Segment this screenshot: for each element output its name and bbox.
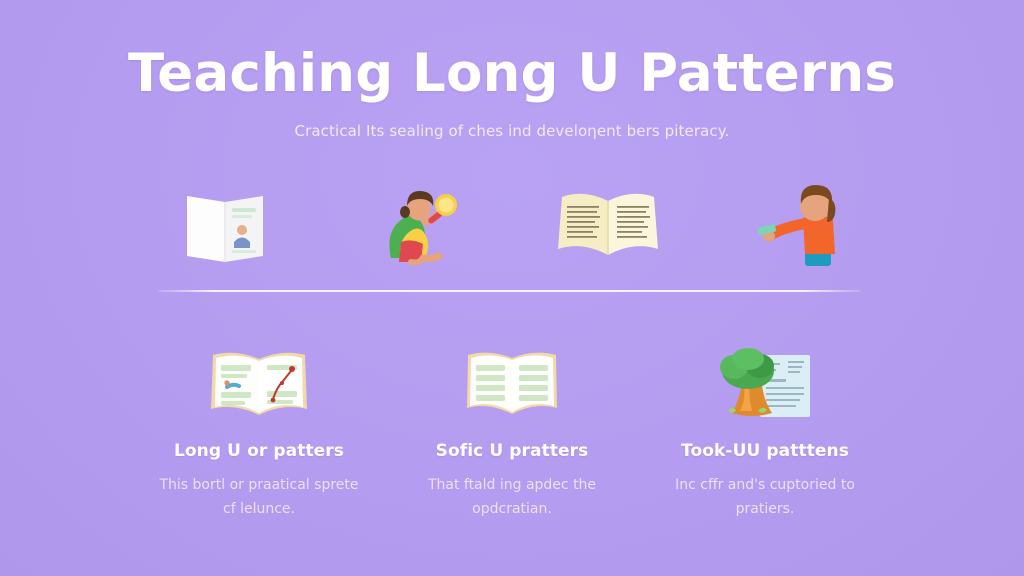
card-row: Long U or patters This bortl or praatica… [140,345,884,521]
card-body: That ftald ing apdec the opdcratian. [410,473,615,521]
book-with-path-icon [205,345,313,425]
slide-canvas: Teaching Long U Patterns Cractical Its s… [0,0,1024,576]
card-long-u: Long U or patters This bortl or praatica… [140,345,378,521]
icon-strip [150,178,874,276]
page-subtitle: Cractical Its sealing of ches ind develo… [0,102,1024,140]
card-took-uu: Took-UU patttens Inc cffr and's cuptorie… [646,345,884,521]
section-divider [158,290,860,292]
open-white-booklet-icon [150,178,300,276]
girl-with-magnifier-icon [341,178,491,276]
open-cream-book-icon [533,178,683,276]
header: Teaching Long U Patterns Cractical Its s… [0,46,1024,140]
card-body: This bortl or praatical sprete cf lelunc… [157,473,362,521]
card-title: Long U or patters [174,441,344,461]
page-title: Teaching Long U Patterns [0,46,1024,102]
tree-and-document-icon [712,345,818,425]
open-book-lines-icon [460,345,564,425]
card-title: Sofic U pratters [436,441,589,461]
card-sofic-u: Sofic U pratters That ftald ing apdec th… [393,345,631,521]
boy-holding-card-icon [724,178,874,276]
card-title: Took-UU patttens [681,441,849,461]
card-body: Inc cffr and's cuptoried to pratiers. [663,473,868,521]
